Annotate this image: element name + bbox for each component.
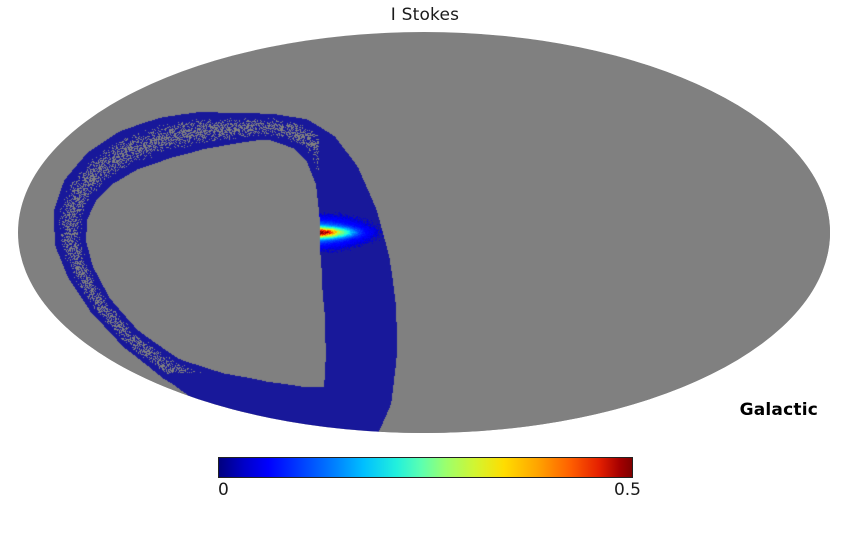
coordinate-system-label: Galactic [740, 400, 818, 420]
page-title: I Stokes [0, 4, 850, 26]
mollweide-projection [18, 32, 830, 433]
sky-map-figure: I Stokes Galactic 0 0.5 [0, 0, 850, 540]
sky-data-clip [18, 32, 830, 433]
scan-band-heatmap [18, 32, 830, 433]
colorbar-gradient [218, 457, 633, 478]
colorbar-min-label: 0 [218, 480, 229, 501]
colorbar-max-label: 0.5 [614, 480, 641, 501]
colorbar: 0 0.5 [218, 457, 633, 507]
